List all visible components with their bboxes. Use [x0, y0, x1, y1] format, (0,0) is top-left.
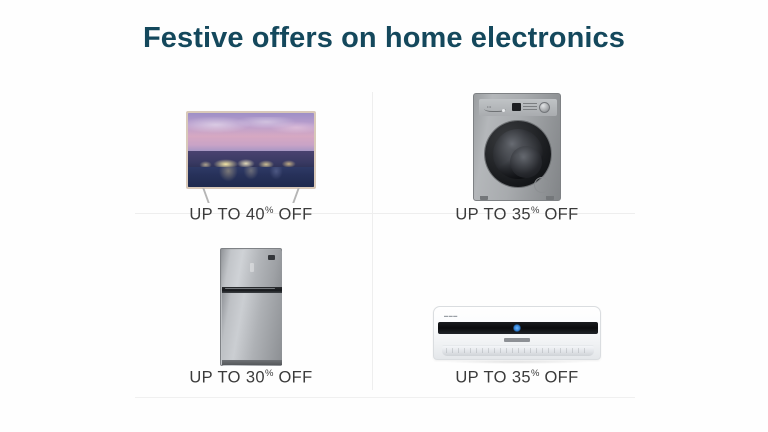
tv-icon	[181, 109, 321, 205]
tv-leg-left	[202, 188, 209, 203]
caption-value: 40	[246, 205, 265, 223]
tv-screen-clouds	[188, 117, 314, 139]
tv-leg-right	[292, 188, 299, 203]
caption-prefix: UP TO	[455, 205, 512, 223]
offer-card-air-conditioner[interactable]: ▬▬▬ UP TO 35% OFF	[384, 233, 650, 396]
caption-value: 35	[512, 205, 531, 223]
air-conditioner-label	[504, 338, 530, 342]
caption-suffix: OFF	[539, 205, 578, 223]
air-conditioner-image: ▬▬▬	[384, 246, 650, 368]
washing-machine-indicator-dot	[502, 109, 505, 112]
air-conditioner-indicator-light	[513, 324, 521, 332]
refrigerator-emblem	[250, 263, 254, 272]
offer-card-washing-machine[interactable]: •••	[384, 70, 650, 233]
offer-caption-washing-machine: UP TO 35% OFF	[455, 205, 578, 234]
horizontal-divider-bottom	[135, 397, 635, 398]
washing-machine-body: •••	[473, 93, 561, 201]
washing-machine-image: •••	[384, 83, 650, 205]
television-image	[118, 83, 384, 205]
air-conditioner-body: ▬▬▬	[433, 306, 601, 360]
refrigerator-freezer-door	[222, 250, 282, 287]
offer-caption-air-conditioner: UP TO 35% OFF	[455, 368, 578, 397]
offer-caption-refrigerator: UP TO 30% OFF	[189, 368, 312, 397]
air-conditioner-shadow	[445, 360, 589, 364]
promo-banner: Festive offers on home electronics	[0, 0, 768, 432]
caption-value: 35	[512, 368, 531, 386]
washing-machine-dial-knob	[539, 102, 550, 113]
caption-suffix: OFF	[273, 368, 312, 386]
offer-card-refrigerator[interactable]: UP TO 30% OFF	[118, 233, 384, 396]
caption-value: 30	[246, 368, 265, 386]
offer-grid: UP TO 40% OFF •••	[118, 70, 650, 396]
air-conditioner-brand-text: ▬▬▬	[444, 313, 458, 318]
refrigerator-handle	[225, 288, 275, 290]
washing-machine-filter-cap	[534, 177, 550, 193]
refrigerator-base	[222, 360, 282, 365]
refrigerator-badge	[268, 255, 275, 260]
caption-suffix: OFF	[273, 205, 312, 223]
washing-machine-door-glass	[493, 129, 543, 179]
refrigerator-body	[220, 248, 282, 366]
caption-suffix: OFF	[539, 368, 578, 386]
air-conditioner-vent-lines	[446, 348, 590, 353]
tv-screen	[188, 113, 314, 187]
tv-screen-water-reflection	[188, 167, 314, 186]
offer-card-television[interactable]: UP TO 40% OFF	[118, 70, 384, 233]
refrigerator-icon	[220, 248, 282, 368]
caption-prefix: UP TO	[455, 368, 512, 386]
washing-machine-control-panel: •••	[479, 99, 557, 116]
air-conditioner-icon: ▬▬▬	[433, 306, 601, 368]
washing-machine-display	[512, 103, 521, 111]
washing-machine-foot-left	[480, 196, 488, 200]
refrigerator-main-door	[222, 293, 282, 366]
caption-prefix: UP TO	[189, 368, 246, 386]
caption-prefix: UP TO	[189, 205, 246, 223]
washing-machine-icon: •••	[473, 93, 561, 205]
page-title: Festive offers on home electronics	[0, 22, 768, 55]
offer-caption-television: UP TO 40% OFF	[189, 205, 312, 234]
washing-machine-drum	[510, 146, 542, 178]
tv-bezel	[186, 111, 316, 189]
refrigerator-image	[118, 246, 384, 368]
washing-machine-program-lines	[523, 103, 537, 112]
washing-machine-foot-right	[546, 196, 554, 200]
